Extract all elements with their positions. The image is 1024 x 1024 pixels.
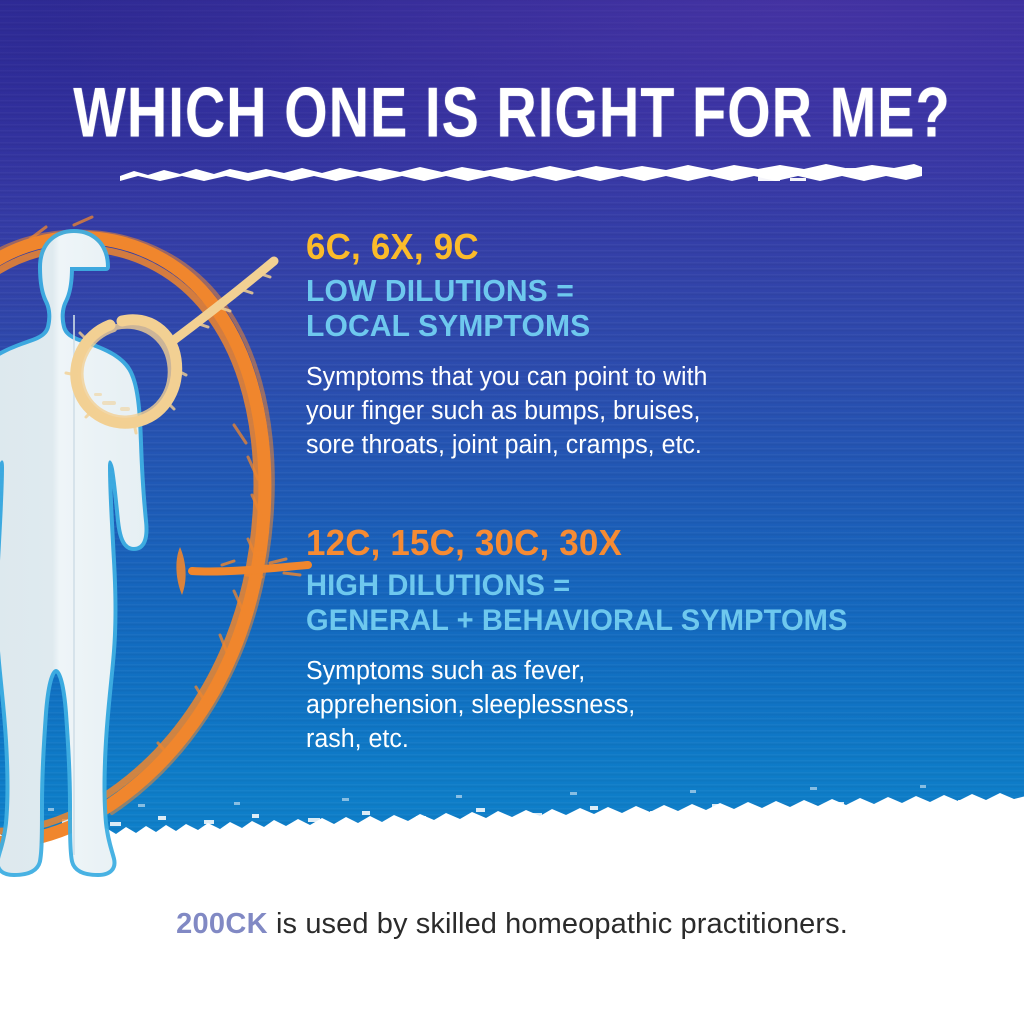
title-underline-brush-icon <box>118 163 924 187</box>
footer-note: 200CK is used by skilled homeopathic pra… <box>0 908 1024 941</box>
potency-label-low: 6C, 6X, 9C <box>306 228 946 266</box>
body-low-line-2: your finger such as bumps, bruises, <box>306 394 953 428</box>
body-high-line-3: rash, etc. <box>306 722 953 756</box>
subhead-high: HIGH DILUTIONS = GENERAL + BEHAVIORAL SY… <box>306 569 946 637</box>
infographic-poster: WHICH ONE IS RIGHT FOR ME? <box>0 0 1024 1024</box>
subhead-low-line-2: LOCAL SYMPTOMS <box>306 308 946 343</box>
dilution-block-high: 12C, 15C, 30C, 30X HIGH DILUTIONS = GENE… <box>306 524 966 756</box>
footer-sentence: is used by skilled homeopathic practitio… <box>268 908 848 940</box>
subhead-low-line-1: LOW DILUTIONS = <box>306 273 946 308</box>
subhead-high-line-2: GENERAL + BEHAVIORAL SYMPTOMS <box>306 604 946 638</box>
page-title: WHICH ONE IS RIGHT FOR ME? <box>20 78 1003 149</box>
body-text-low: Symptoms that you can point to with your… <box>306 360 953 462</box>
figure-graphic-layer <box>0 195 334 915</box>
footer-potency-code: 200CK <box>176 908 268 940</box>
body-low-line-1: Symptoms that you can point to with <box>306 360 953 394</box>
body-and-circles-svg <box>0 195 334 915</box>
subhead-low: LOW DILUTIONS = LOCAL SYMPTOMS <box>306 273 946 344</box>
potency-label-high: 12C, 15C, 30C, 30X <box>306 524 946 562</box>
dilution-block-low: 6C, 6X, 9C LOW DILUTIONS = LOCAL SYMPTOM… <box>306 228 966 462</box>
body-high-line-1: Symptoms such as fever, <box>306 654 953 688</box>
body-text-high: Symptoms such as fever, apprehension, sl… <box>306 654 953 756</box>
title-block: WHICH ONE IS RIGHT FOR ME? <box>0 78 1024 136</box>
subhead-high-line-1: HIGH DILUTIONS = <box>306 569 946 603</box>
human-body-silhouette-icon <box>0 233 145 873</box>
body-low-line-3: sore throats, joint pain, cramps, etc. <box>306 428 953 462</box>
body-high-line-2: apprehension, sleeplessness, <box>306 688 953 722</box>
content-column: 6C, 6X, 9C LOW DILUTIONS = LOCAL SYMPTOM… <box>306 228 966 756</box>
